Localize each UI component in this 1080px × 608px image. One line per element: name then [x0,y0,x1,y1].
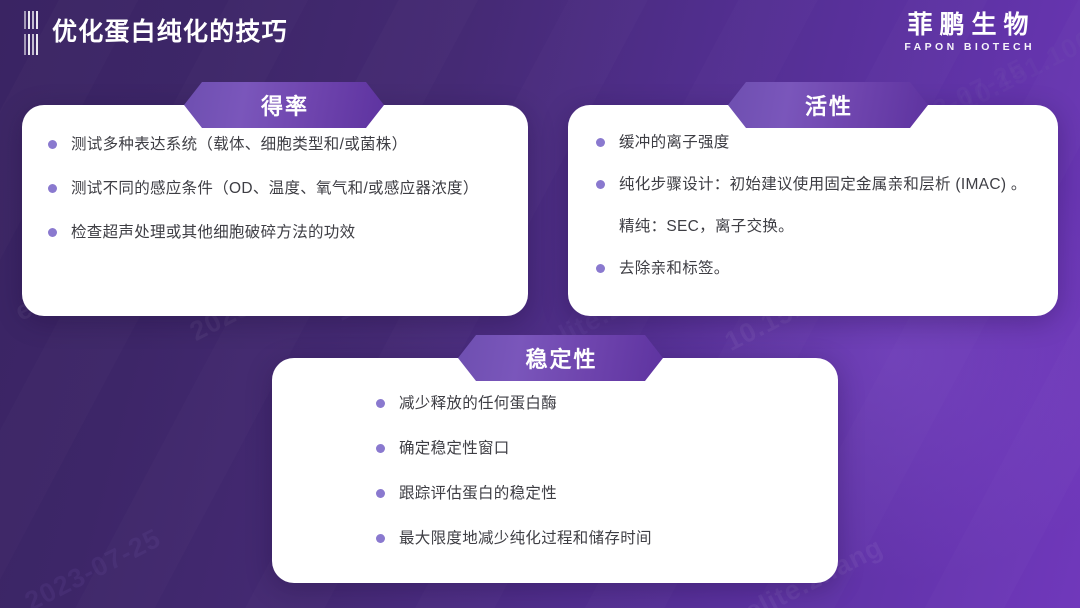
list-item-label: 最大限度地减少纯化过程和储存时间 [399,527,652,550]
bullet-dot-icon [376,444,385,453]
card-stability-title-banner: 稳定性 [458,335,663,381]
card-activity: 缓冲的离子强度纯化步骤设计：初始建议使用固定金属亲和层析 (IMAC) 。精纯：… [568,105,1058,316]
list-item: 纯化步骤设计：初始建议使用固定金属亲和层析 (IMAC) 。 [596,173,1032,196]
list-item-label: 缓冲的离子强度 [619,131,730,154]
card-stability-bullets: 减少释放的任何蛋白酶确定稳定性窗口跟踪评估蛋白的稳定性最大限度地减少纯化过程和储… [272,358,838,572]
bullet-dot-icon [48,140,57,149]
list-item: 最大限度地减少纯化过程和储存时间 [376,527,812,550]
slide-header: 优化蛋白纯化的技巧 菲鹏生物 FAPON BIOTECH [0,0,1080,66]
list-item: 跟踪评估蛋白的稳定性 [376,482,812,505]
bullet-dot-icon [596,138,605,147]
list-item-label: 测试不同的感应条件（OD、温度、氧气和/或感应器浓度） [71,177,479,200]
watermark-text: 2023-07-25 [20,523,166,608]
list-item: 精纯：SEC，离子交换。 [596,215,1032,238]
list-item: 检查超声处理或其他细胞破碎方法的功效 [48,221,502,244]
bullet-dot-icon [376,534,385,543]
list-item: 缓冲的离子强度 [596,131,1032,154]
bullet-dot-icon [596,222,605,231]
list-item-label: 测试多种表达系统（载体、细胞类型和/或菌株） [71,133,407,156]
brand-logo-cn: 菲鹏生物 [878,10,1058,40]
list-item-label: 检查超声处理或其他细胞破碎方法的功效 [71,221,355,244]
bullet-dot-icon [376,489,385,498]
list-item-label: 确定稳定性窗口 [399,437,510,460]
list-item: 确定稳定性窗口 [376,437,812,460]
card-activity-bullets: 缓冲的离子强度纯化步骤设计：初始建议使用固定金属亲和层析 (IMAC) 。精纯：… [568,105,1058,299]
list-item: 测试多种表达系统（载体、细胞类型和/或菌株） [48,133,502,156]
card-yield-bullets: 测试多种表达系统（载体、细胞类型和/或菌株）测试不同的感应条件（OD、温度、氧气… [22,105,528,265]
card-stability: 减少释放的任何蛋白酶确定稳定性窗口跟踪评估蛋白的稳定性最大限度地减少纯化过程和储… [272,358,838,583]
card-yield-title-banner: 得率 [184,82,384,128]
bullet-dot-icon [596,180,605,189]
vertical-bars-icon [22,11,40,55]
page-title: 优化蛋白纯化的技巧 [52,11,288,53]
brand-logo: 菲鹏生物 FAPON BIOTECH [878,10,1058,55]
list-item-label: 跟踪评估蛋白的稳定性 [399,482,557,505]
slide-root: 2023-07-252023-07-252023-07-252023-07-25… [0,0,1080,608]
bullet-dot-icon [596,264,605,273]
list-item: 测试不同的感应条件（OD、温度、氧气和/或感应器浓度） [48,177,502,200]
brand-logo-en: FAPON BIOTECH [878,40,1058,55]
bullet-dot-icon [48,184,57,193]
card-yield: 测试多种表达系统（载体、细胞类型和/或菌株）测试不同的感应条件（OD、温度、氧气… [22,105,528,316]
bullet-dot-icon [376,399,385,408]
list-item: 减少释放的任何蛋白酶 [376,392,812,415]
card-activity-title-banner: 活性 [728,82,928,128]
bullet-dot-icon [48,228,57,237]
list-item-label: 精纯：SEC，离子交换。 [619,215,794,238]
list-item-label: 减少释放的任何蛋白酶 [399,392,557,415]
list-item-label: 纯化步骤设计：初始建议使用固定金属亲和层析 (IMAC) 。 [619,173,1027,196]
list-item-label: 去除亲和标签。 [619,257,730,280]
list-item: 去除亲和标签。 [596,257,1032,280]
